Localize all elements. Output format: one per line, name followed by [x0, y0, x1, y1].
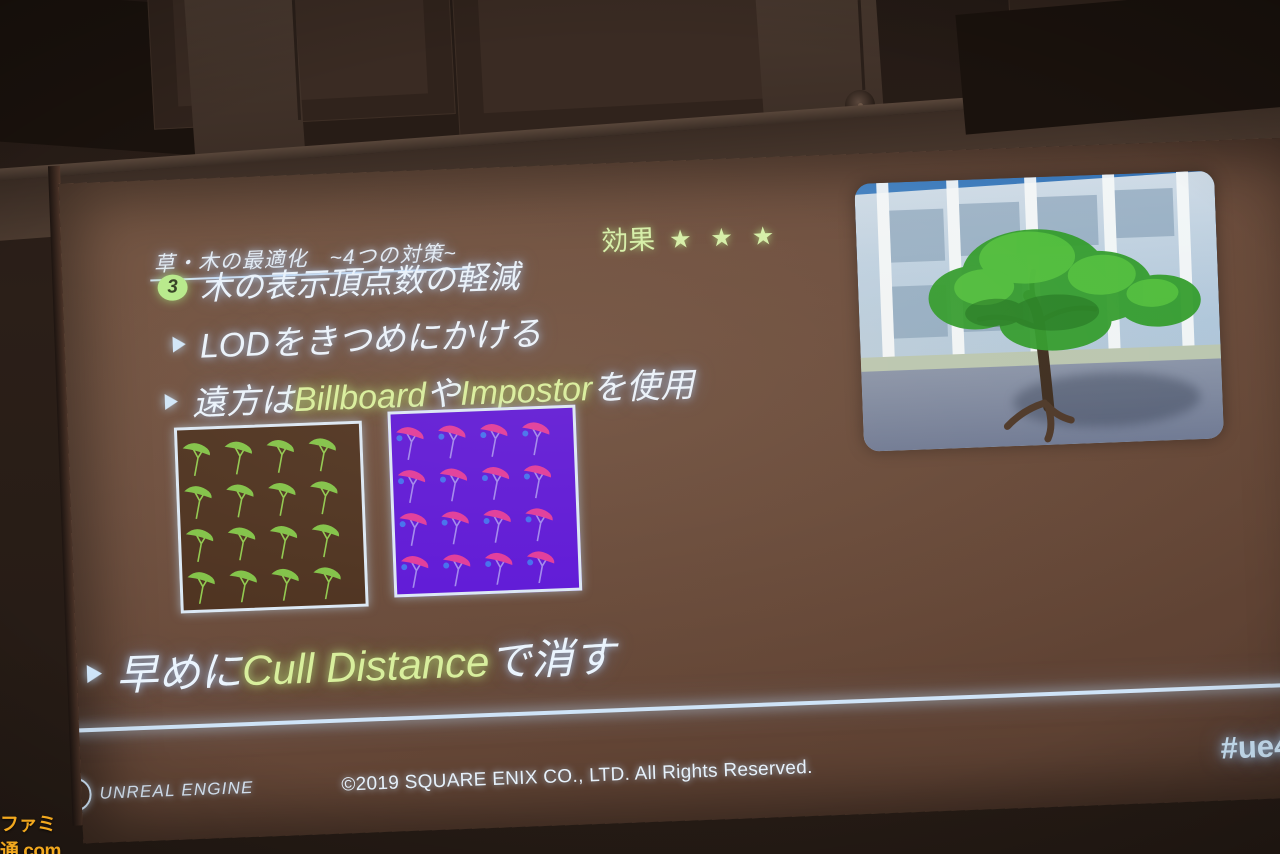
bullet-triangle-icon: [165, 393, 179, 409]
bullet-row-1: LODをきつめにかける: [172, 306, 543, 369]
copyright-notice: ©2019 SQUARE ENIX CO., LTD. All Rights R…: [341, 757, 813, 797]
plain-term: 遠方は: [191, 381, 294, 423]
effect-stars: ★ ★ ★: [669, 222, 781, 254]
plain-term: 早めに: [115, 647, 243, 699]
bullet-triangle-icon: [172, 336, 186, 352]
plain-term: LOD: [199, 325, 270, 366]
site-watermark: ファミ通.com: [0, 822, 104, 850]
unreal-engine-wordmark: UNREAL ENGINE: [99, 778, 254, 804]
watermark-text: ファミ通.com: [0, 809, 104, 854]
figure-atlas-diffuse: [174, 421, 369, 614]
projection-screen: 草・木の最適化 ~4つの対策~ 効果★ ★ ★ 3 木の表示頂点数の軽減 LOD…: [0, 120, 1280, 854]
photo-of-projected-slide: 草・木の最適化 ~4つの対策~ 効果★ ★ ★ 3 木の表示頂点数の軽減 LOD…: [0, 0, 1280, 854]
ceiling-panel-2-inner: [477, 0, 764, 113]
plain-term: を使用: [592, 366, 695, 408]
item-number-badge: 3: [157, 274, 188, 301]
tree-grid-diffuse: [177, 424, 359, 604]
bullet-1-text: LODをきつめにかける: [199, 306, 543, 368]
effect-rating: 効果★ ★ ★: [600, 213, 780, 259]
bullet-triangle-icon: [87, 664, 103, 683]
tree-grid-normal: [391, 408, 573, 588]
figure-atlas-normal: [387, 405, 582, 598]
highlight-term: Cull Distance: [241, 638, 490, 694]
plain-term: で消す: [488, 633, 616, 685]
event-hashtag: #ue4: [1220, 728, 1280, 767]
slide-content: 草・木の最適化 ~4つの対策~ 効果★ ★ ★ 3 木の表示頂点数の軽減 LOD…: [59, 137, 1280, 844]
plain-term: をきつめにかける: [269, 315, 542, 363]
unreal-engine-logo: UNREAL ENGINE: [75, 771, 254, 812]
effect-label: 効果: [601, 224, 656, 256]
bullet-row-bottom: 早めにCull Distanceで消す: [86, 623, 616, 704]
figure-tree-render: [854, 170, 1224, 451]
bottom-bullet-text: 早めにCull Distanceで消す: [115, 623, 616, 703]
render-tree-model: [854, 170, 1224, 451]
